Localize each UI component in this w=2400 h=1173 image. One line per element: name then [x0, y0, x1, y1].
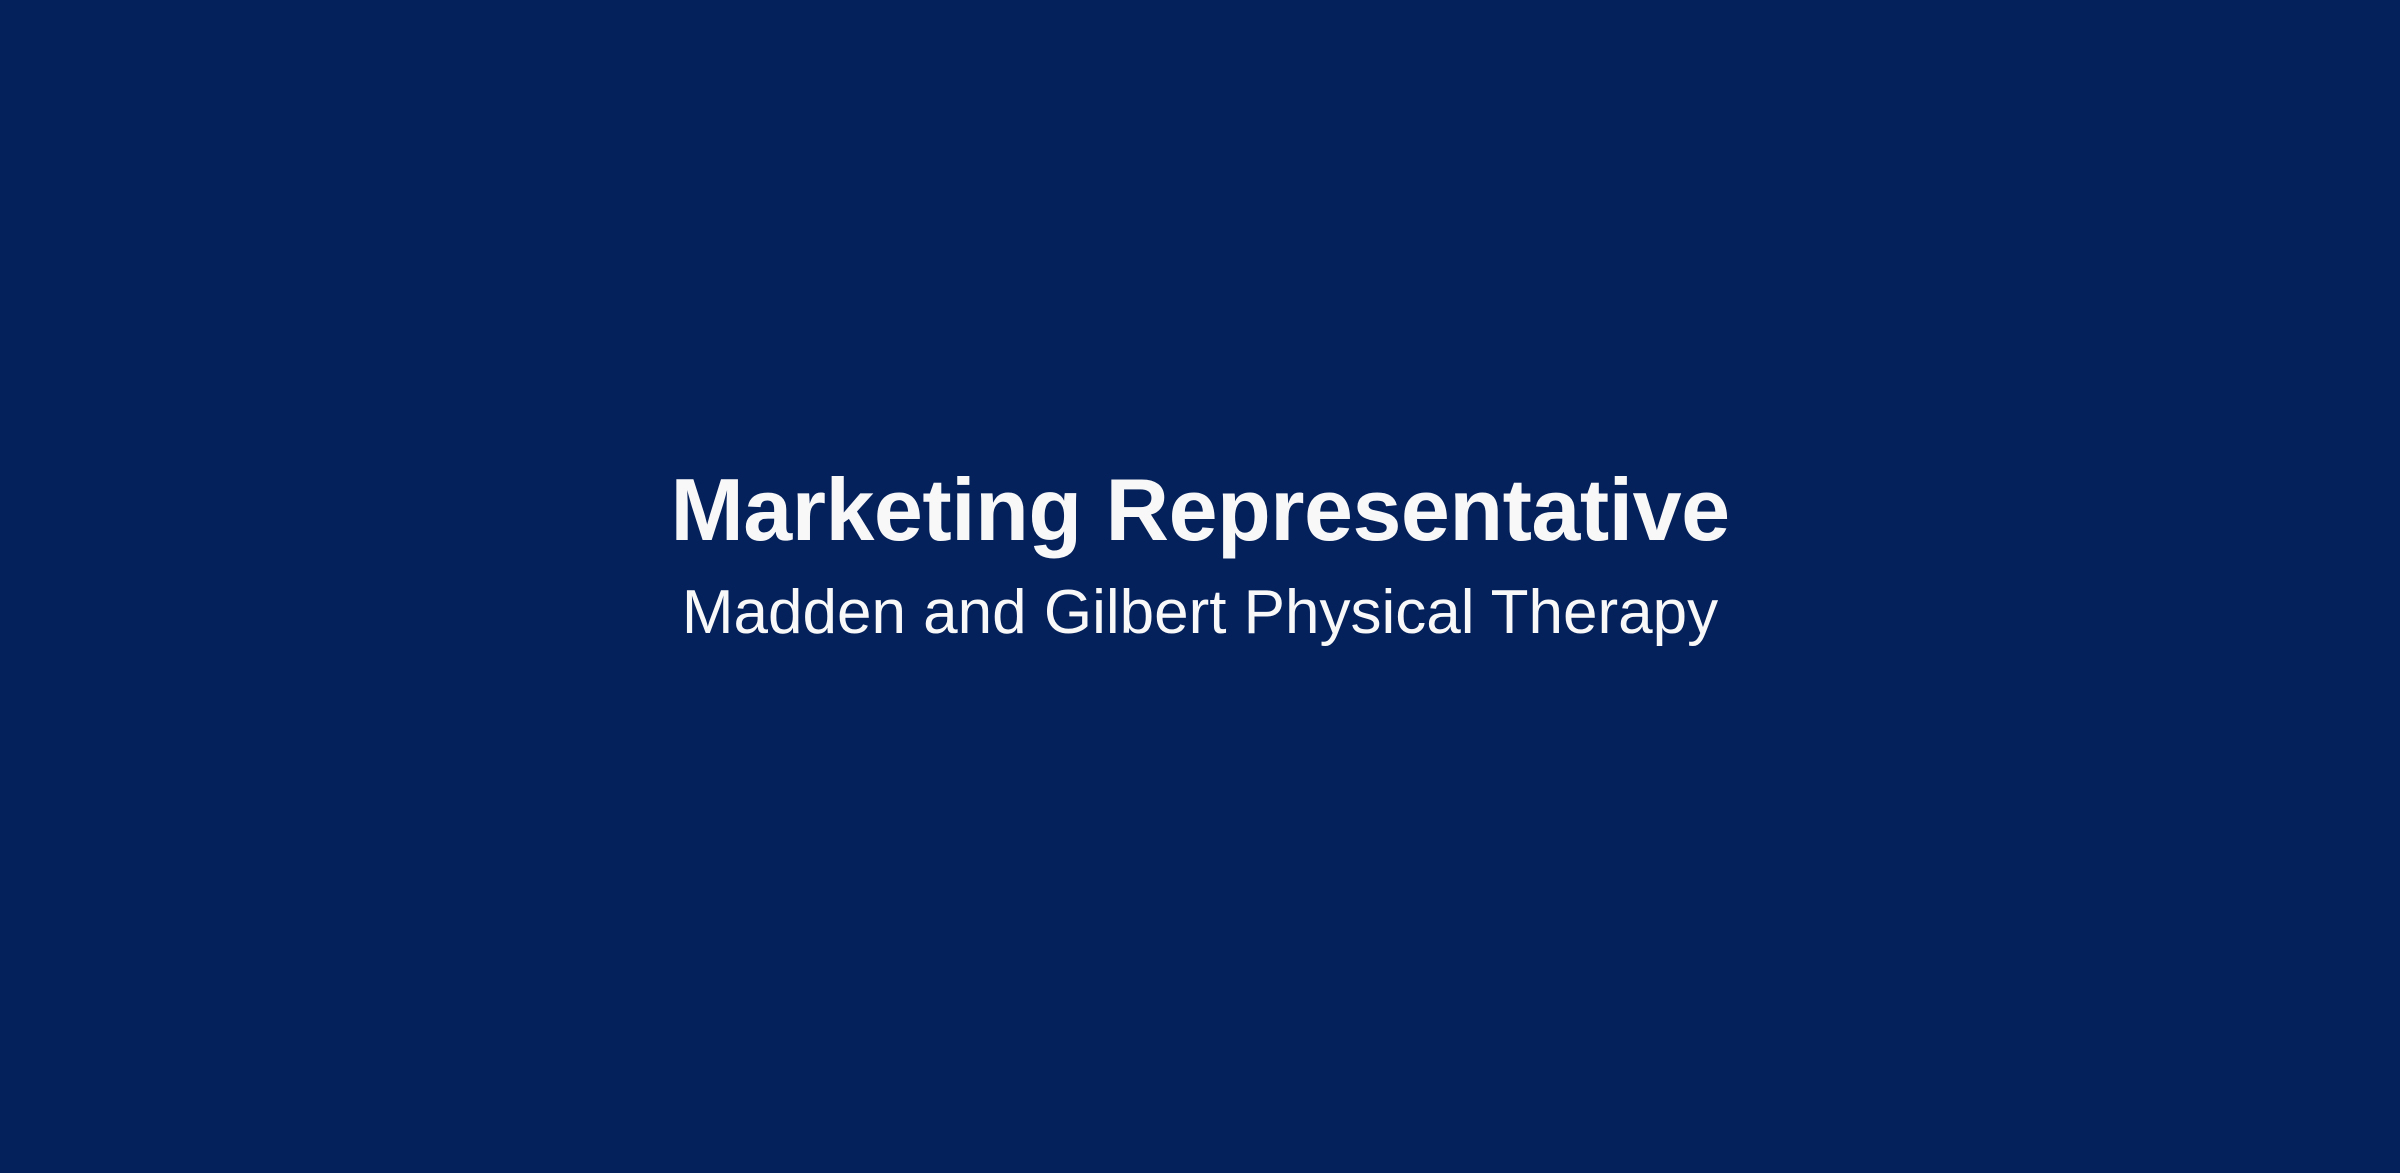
job-title: Marketing Representative [670, 466, 1729, 554]
company-name: Madden and Gilbert Physical Therapy [682, 582, 1718, 644]
title-block: Marketing Representative Madden and Gilb… [0, 466, 2400, 644]
job-title-card: Marketing Representative Madden and Gilb… [0, 0, 2400, 1173]
